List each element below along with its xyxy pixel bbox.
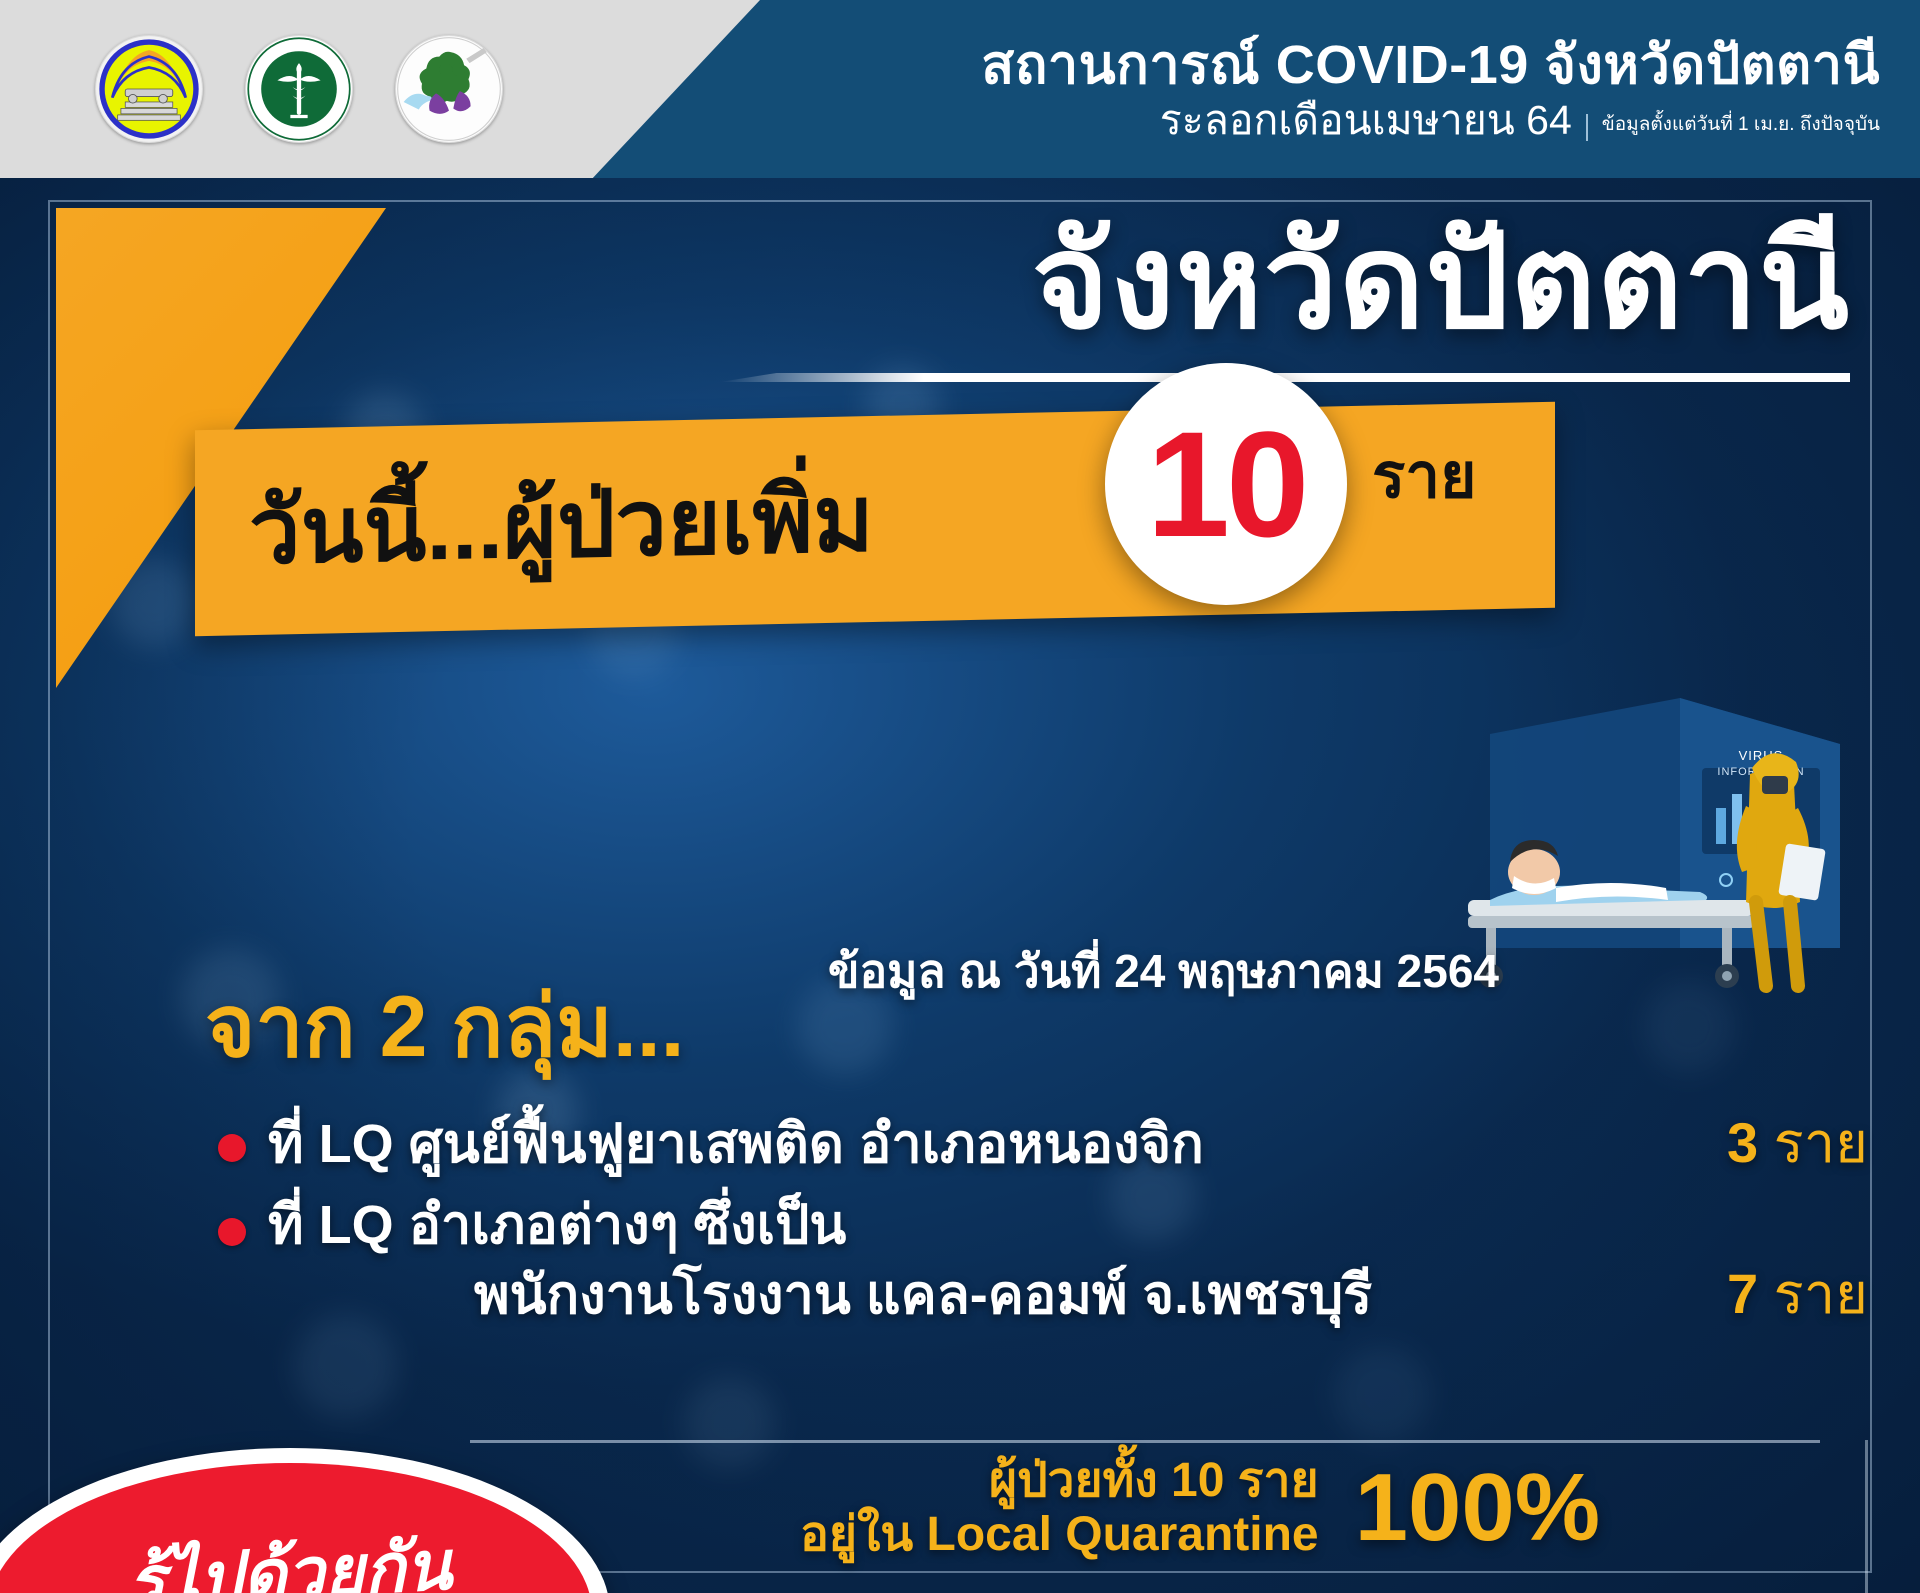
bullet-dot-icon [218, 1218, 246, 1246]
group-2-count: 7 [1727, 1262, 1758, 1325]
campaign-badge-line-1: รู้ไปด้วยกัน [127, 1532, 454, 1593]
header-subtitle: ระลอกเดือนเมษายน 64 [1160, 100, 1572, 141]
group-1-unit: ราย [1774, 1111, 1868, 1174]
data-as-of-date: ข้อมูล ณ วันที่ 24 พฤษภาคม 2564 [828, 948, 1499, 994]
list-item: ที่ LQ อำเภอต่างๆ ซึ่งเป็น พนักงานโรงงาน… [218, 1192, 1868, 1329]
ministry-of-public-health-icon [245, 35, 353, 143]
new-cases-count: 10 [1147, 409, 1306, 559]
summary-divider [470, 1440, 1820, 1443]
pattani-province-seal-icon [95, 35, 203, 143]
bullet-dot-icon [218, 1134, 246, 1162]
page-header: สถานการณ์ COVID-19 จังหวัดปัตตานี ระลอกเ… [0, 0, 1920, 178]
groups-heading: จาก 2 กลุ่ม... [205, 984, 685, 1070]
summary-percent: 100% [1355, 1460, 1601, 1556]
group-2-description-line2: พนักงานโรงงาน แคล-คอมพ์ จ.เพชรบุรี [474, 1262, 1372, 1329]
header-title: สถานการณ์ COVID-19 จังหวัดปัตตานี [981, 37, 1880, 94]
list-item: ที่ LQ ศูนย์ฟื้นฟูยาเสพติด อำเภอหนองจิก … [218, 1108, 1868, 1178]
group-2-description-line1: ที่ LQ อำเภอต่างๆ ซึ่งเป็น [268, 1192, 846, 1259]
summary-line-1: ผู้ป่วยทั้ง 10 ราย [800, 1454, 1319, 1508]
poster-body: จังหวัดปัตตานี VIRUS INFORMATION [0, 178, 1920, 1593]
public-relations-department-icon [395, 35, 503, 143]
header-titles: สถานการณ์ COVID-19 จังหวัดปัตตานี ระลอกเ… [981, 0, 1880, 178]
group-1-count: 3 [1727, 1111, 1758, 1174]
new-cases-circle: 10 [1105, 363, 1347, 605]
province-title: จังหวัดปัตตานี [1032, 216, 1850, 348]
logo-strip [0, 0, 760, 178]
headline-banner-content: วันนี้...ผู้ป่วยเพิ่ม [195, 402, 1555, 636]
new-cases-unit: ราย [1372, 446, 1476, 508]
group-1-description: ที่ LQ ศูนย์ฟื้นฟูยาเสพติด อำเภอหนองจิก [268, 1111, 1204, 1178]
summary-line-2: อยู่ใน Local Quarantine [800, 1508, 1319, 1562]
summary-right-rule [1865, 1440, 1868, 1593]
case-groups-list: ที่ LQ ศูนย์ฟื้นฟูยาเสพติด อำเภอหนองจิก … [218, 1108, 1868, 1343]
header-note: ข้อมูลตั้งแต่วันที่ 1 เม.ย. ถึงปัจจุบัน [1586, 114, 1880, 141]
group-2-unit: ราย [1774, 1262, 1868, 1325]
quarantine-summary: ผู้ป่วยทั้ง 10 ราย อยู่ใน Local Quaranti… [800, 1454, 1600, 1562]
headline-text: วันนี้...ผู้ป่วยเพิ่ม [249, 473, 874, 578]
